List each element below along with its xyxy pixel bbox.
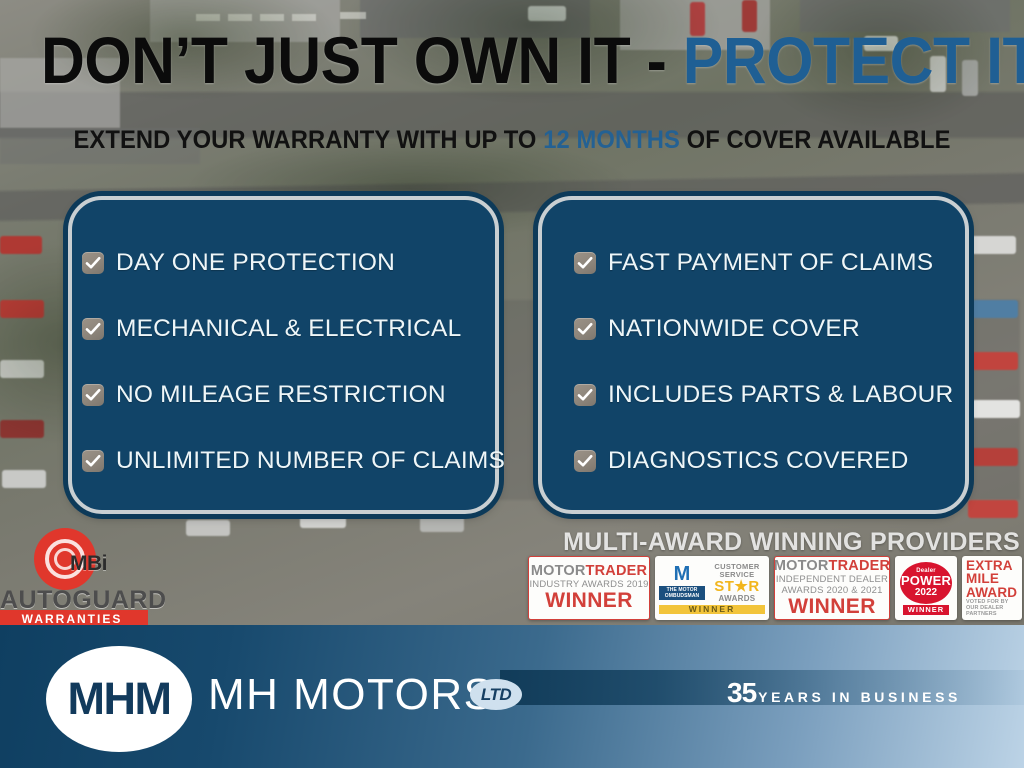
checkmark-icon [574,252,596,274]
award-badge-extra-mile: EXTRA MILE AWARD VOTED FOR BY OUR DEALER… [962,556,1022,620]
benefit-label: DAY ONE PROTECTION [116,249,395,277]
badge-year: 2022 [915,587,937,598]
checkmark-icon [82,252,104,274]
list-item: MECHANICAL & ELECTRICAL [72,296,495,362]
subheadline-part-2: OF COVER AVAILABLE [680,126,951,154]
list-item: DAY ONE PROTECTION [72,230,495,296]
benefit-label: INCLUDES PARTS & LABOUR [608,381,953,409]
badge-status: WINNER [689,605,735,614]
list-item: FAST PAYMENT OF CLAIMS [542,230,965,296]
benefit-label: MECHANICAL & ELECTRICAL [116,315,461,343]
benefit-label: FAST PAYMENT OF CLAIMS [608,249,933,277]
badge-line-4: AWARDS [709,594,765,603]
badge-line-3: AWARD [966,586,1017,600]
benefit-label: NATIONWIDE COVER [608,315,860,343]
award-badge-motortrader-2020-2021: MOTORTRADER INDEPENDENT DEALER AWARDS 20… [774,556,890,620]
benefits-panel-right: FAST PAYMENT OF CLAIMS NATIONWIDE COVER … [538,196,969,514]
checkmark-icon [574,450,596,472]
benefits-panel-left: DAY ONE PROTECTION MECHANICAL & ELECTRIC… [68,196,499,514]
benefit-label: UNLIMITED NUMBER OF CLAIMS [116,447,505,475]
mhm-logo-badge: MHM [46,646,192,752]
badge-status: WINNER [788,596,876,618]
badge-subtitle: INDEPENDENT DEALER [776,574,888,585]
subheadline: EXTEND YOUR WARRANTY WITH UP TO 12 MONTH… [26,126,999,154]
dealer-power-seal-icon: Dealer POWER 2022 [900,562,952,604]
subheadline-part-1: EXTEND YOUR WARRANTY WITH UP TO [73,126,543,154]
ltd-label: LTD [481,685,511,705]
company-wordmark: MH MOTORS [208,673,494,717]
badge-line-3: ST★R [709,579,765,594]
badge-status: WINNER [545,590,633,612]
years-number: 35 [727,679,756,707]
headline: DON’T JUST OWN IT - PROTECT IT [41,27,983,93]
promo-poster: DON’T JUST OWN IT - PROTECT IT EXTEND YO… [0,0,1024,768]
badge-brand: THE MOTOR OMBUDSMAN [659,586,705,600]
award-badge-motor-ombudsman: M THE MOTOR OMBUDSMAN CUSTOMER SERVICE S… [655,556,769,620]
autoguard-warranties-logo: MBi AUTOGUARD WARRANTIES [8,528,140,626]
checkmark-icon [574,384,596,406]
checkmark-icon [82,318,104,340]
subheadline-highlight: 12 MONTHS [543,126,680,154]
badge-line-1: EXTRA [966,559,1013,573]
benefit-label: NO MILEAGE RESTRICTION [116,381,446,409]
badge-brand: MOTORTRADER [531,564,647,579]
list-item: UNLIMITED NUMBER OF CLAIMS [72,428,495,494]
checkmark-icon [574,318,596,340]
award-badge-motortrader-2019: MOTORTRADER INDUSTRY AWARDS 2019 WINNER [528,556,650,620]
badge-subtitle-2: AWARDS 2020 & 2021 [781,585,882,596]
badge-line-2: MILE [966,572,999,586]
list-item: DIAGNOSTICS COVERED [542,428,965,494]
awards-badge-row: MOTORTRADER INDUSTRY AWARDS 2019 WINNER … [528,556,1022,620]
award-badge-dealer-power-2022: Dealer POWER 2022 WINNER [895,556,957,620]
badge-title: POWER [901,574,951,587]
mhm-monogram: MHM [68,673,171,725]
years-in-business: 35 YEARS IN BUSINESS [727,679,961,707]
headline-part-1: DON’T JUST OWN IT - [41,23,683,97]
headline-part-2: PROTECT IT [683,23,1024,97]
checkmark-icon [82,384,104,406]
checkmark-icon [82,450,104,472]
list-item: INCLUDES PARTS & LABOUR [542,362,965,428]
benefit-label: DIAGNOSTICS COVERED [608,447,909,475]
list-item: NO MILEAGE RESTRICTION [72,362,495,428]
mbi-mark: MBi [70,552,107,576]
badge-fineprint: VOTED FOR BY OUR DEALER PARTNERS [966,599,1018,617]
list-item: NATIONWIDE COVER [542,296,965,362]
badge-status: WINNER [903,605,949,615]
ombudsman-m-icon: M [659,564,705,584]
awards-heading: MULTI-AWARD WINNING PROVIDERS [563,528,1020,557]
ltd-badge: LTD [470,679,522,710]
years-label: YEARS IN BUSINESS [758,690,961,704]
badge-brand: MOTORTRADER [774,559,890,574]
